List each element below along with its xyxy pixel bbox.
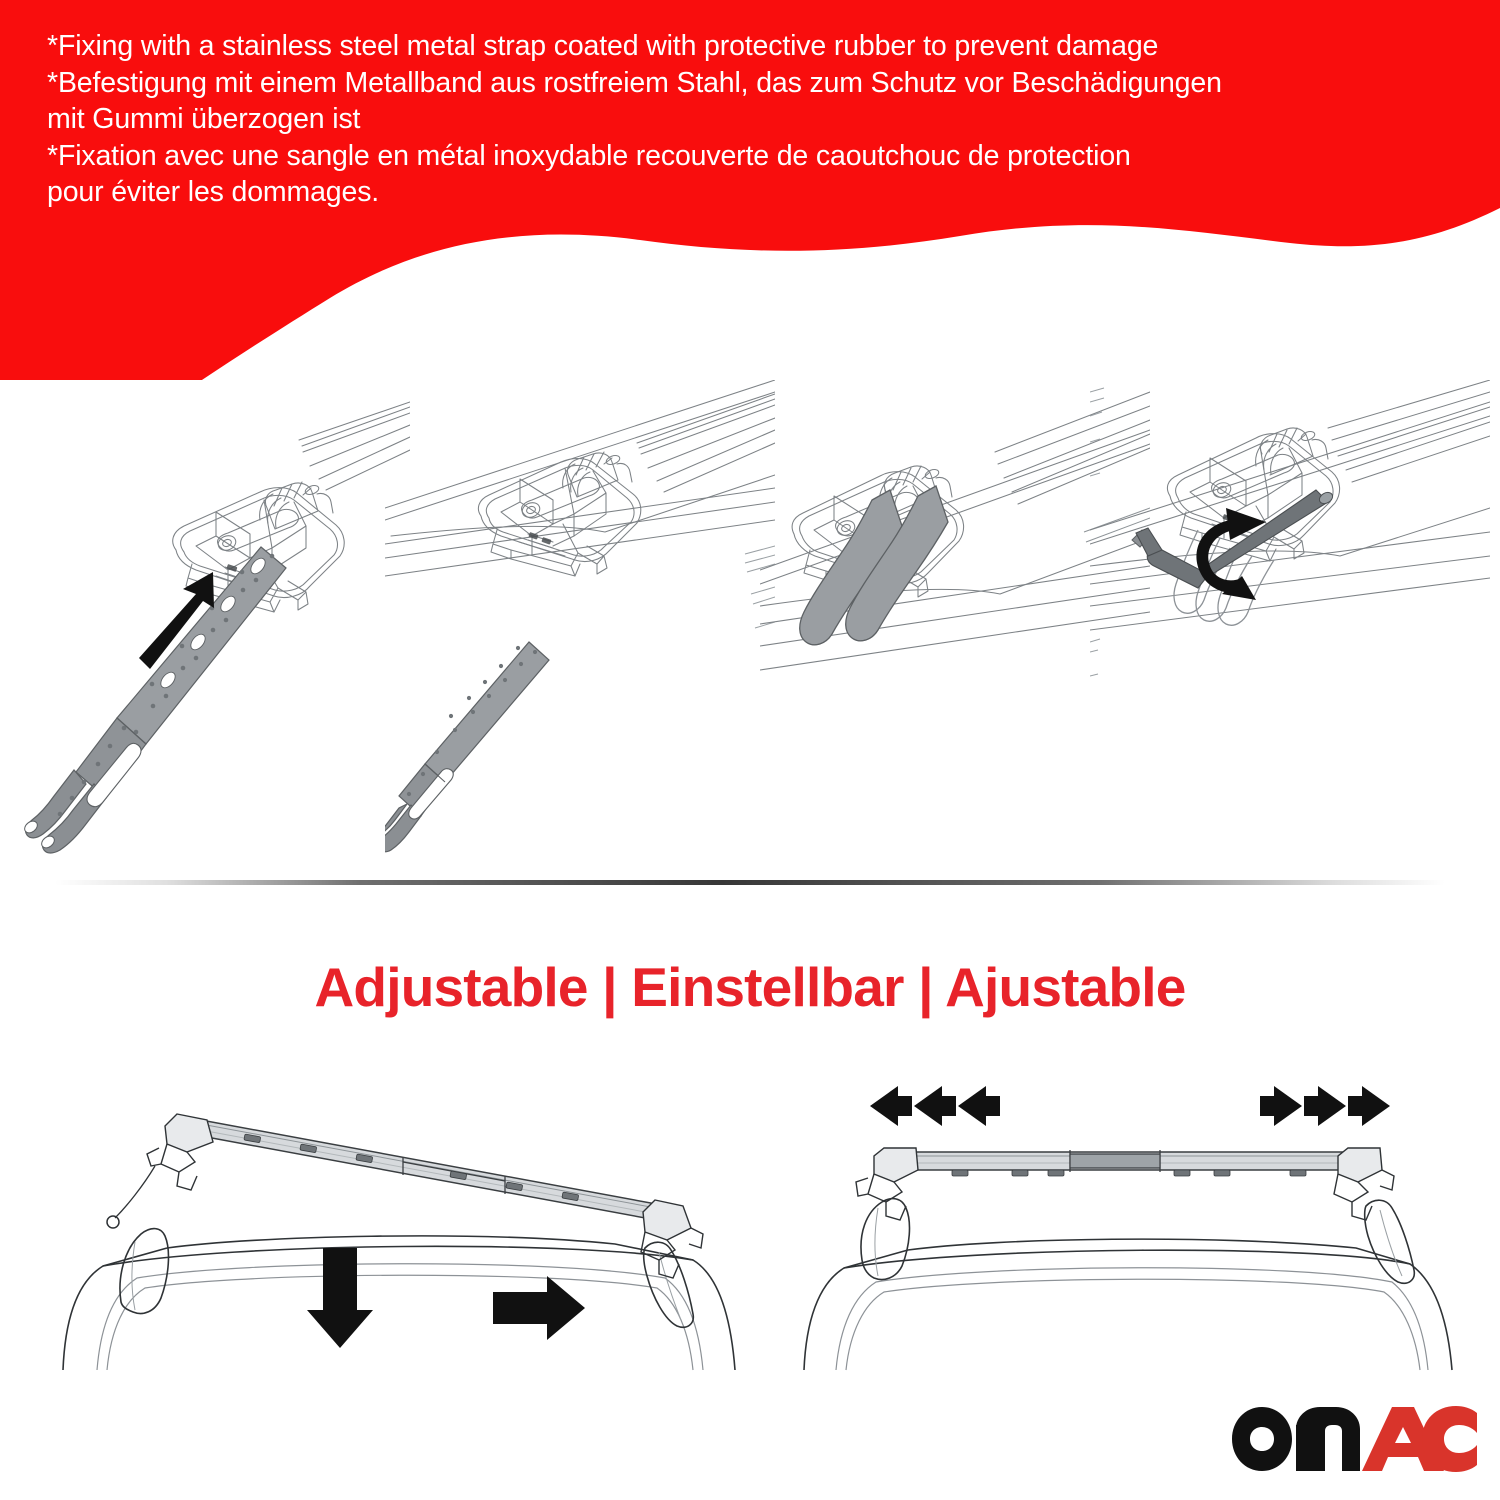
triple-left-arrow-icon: [870, 1086, 1000, 1126]
instruction-page: *Fixing with a stainless steel metal str…: [0, 0, 1500, 1500]
allen-key-icon: [1136, 490, 1335, 588]
omac-logo-mark: [1232, 1405, 1477, 1473]
mount-crossbar-drawing: [55, 1070, 755, 1390]
step-2-position-foot: [385, 380, 775, 880]
installation-steps: [0, 380, 1500, 880]
down-arrow-icon: [307, 1248, 373, 1348]
step-1-drawing: [20, 380, 410, 880]
step-4-tighten-bolt: [1090, 380, 1490, 880]
right-arrow-icon: [493, 1276, 585, 1340]
triple-right-arrow-icon: [1260, 1086, 1390, 1126]
section-divider: [55, 880, 1445, 885]
step-4-drawing: [1090, 380, 1490, 880]
banner-text: *Fixing with a stainless steel metal str…: [47, 28, 1467, 211]
adjust-width-figure: [790, 1070, 1470, 1390]
logo-letter-o: [1232, 1407, 1292, 1471]
step-1-insert-strap: [20, 380, 410, 880]
page-title: Adjustable | Einstellbar | Ajustable: [0, 955, 1500, 1019]
crossbar: [201, 1120, 667, 1222]
bottom-figures: [0, 1070, 1500, 1390]
metal-strap: [22, 547, 292, 853]
step-2-drawing: [385, 380, 775, 880]
header-banner: *Fixing with a stainless steel metal str…: [0, 0, 1500, 380]
mount-crossbar-figure: [55, 1070, 755, 1390]
adjust-width-drawing: [790, 1070, 1470, 1390]
omac-logo: [1232, 1405, 1477, 1473]
metal-strap: [385, 642, 549, 852]
crossbar: [908, 1150, 1356, 1176]
